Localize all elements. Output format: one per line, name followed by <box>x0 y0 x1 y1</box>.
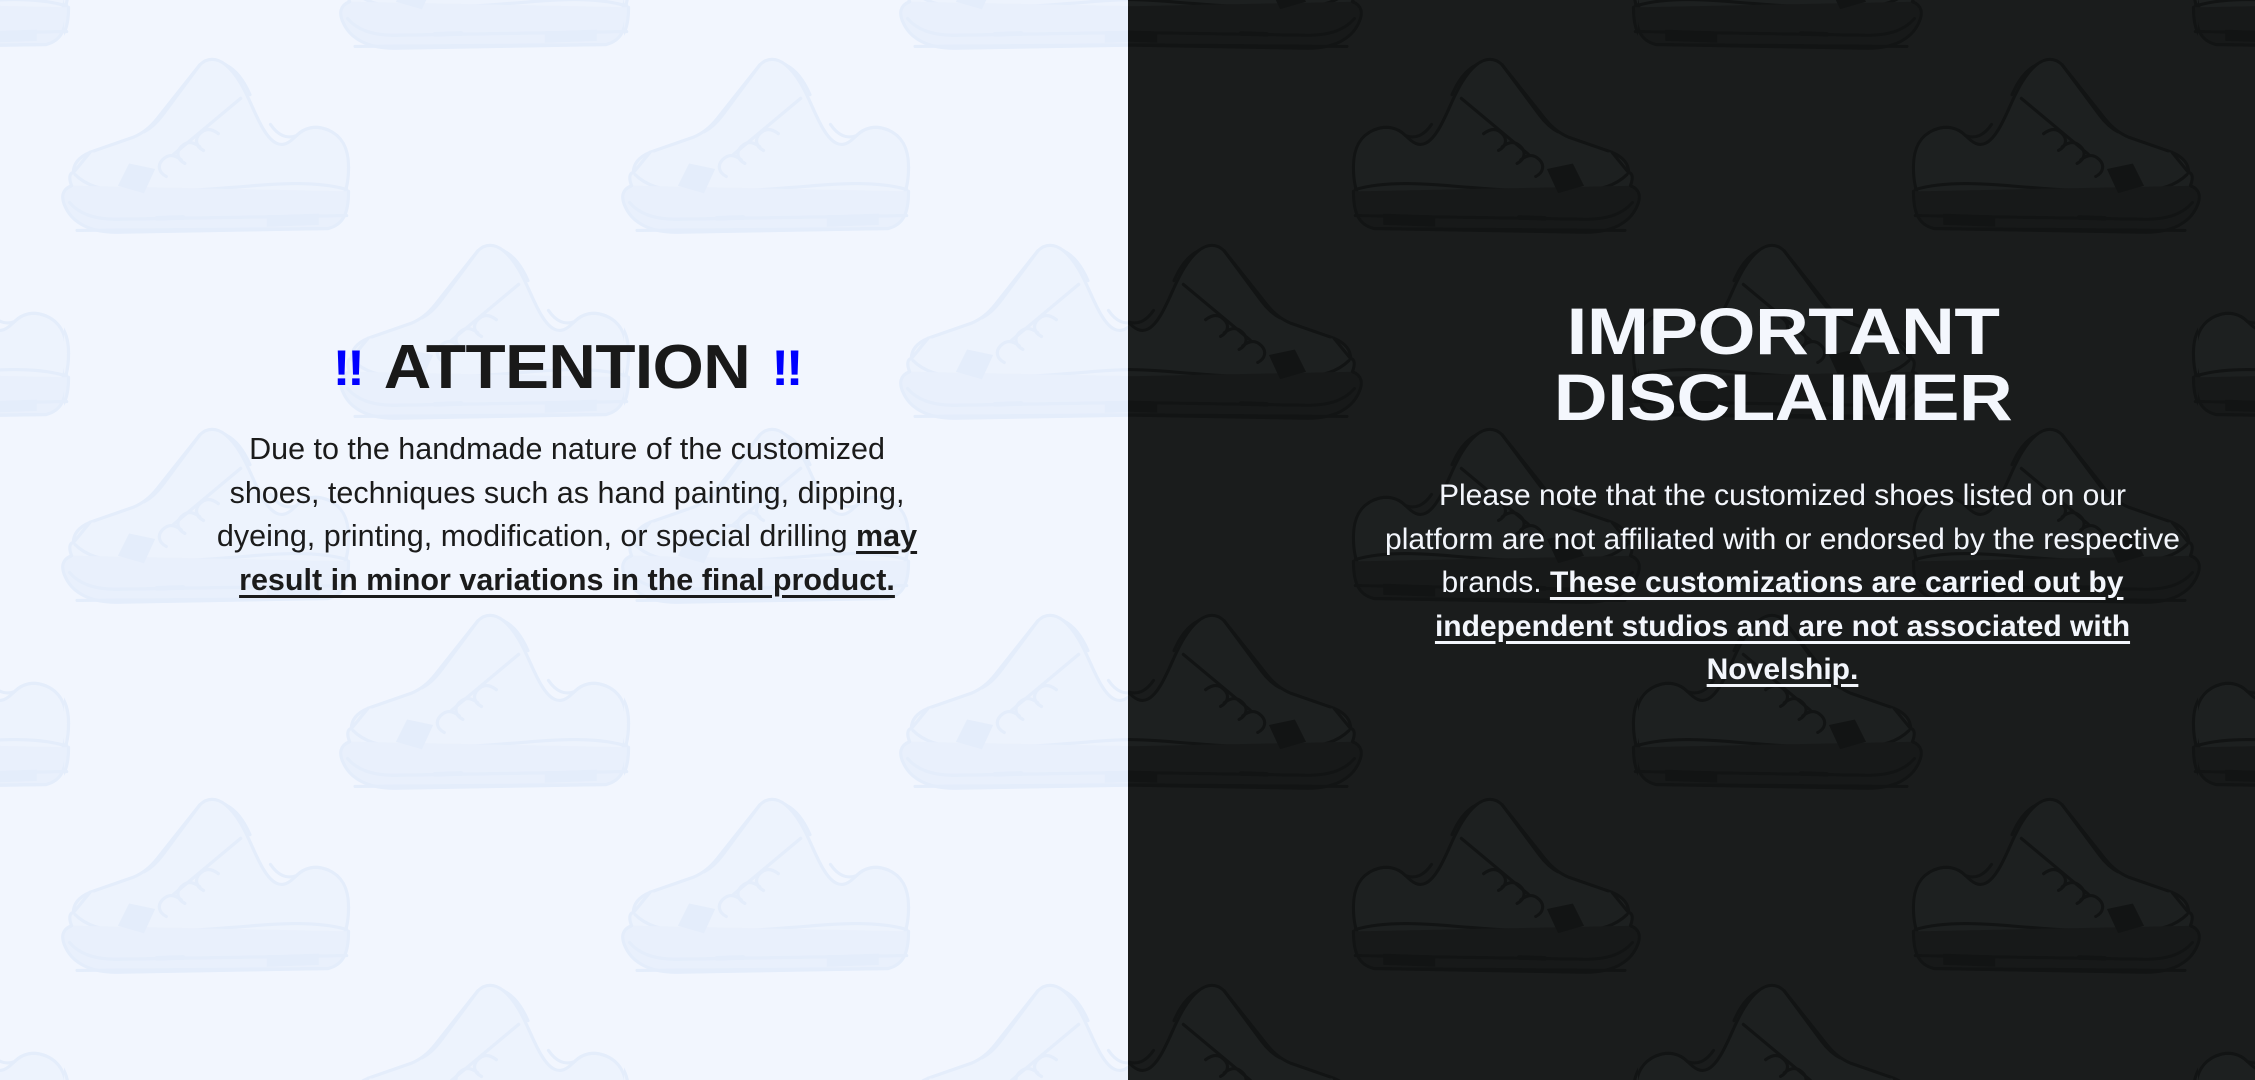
disclaimer-banner: ‼ATTENTION‼ Due to the handmade nature o… <box>0 0 2255 1080</box>
double-exclamation-icon-left: ‼ <box>333 340 363 396</box>
double-exclamation-icon-right: ‼ <box>771 340 801 396</box>
attention-body-normal: Due to the handmade nature of the custom… <box>217 432 905 553</box>
disclaimer-body: Please note that the customized shoes li… <box>1385 474 2181 692</box>
attention-body: Due to the handmade nature of the custom… <box>211 428 923 602</box>
disclaimer-heading-line1: IMPORTANT <box>1333 298 2232 364</box>
attention-heading: ‼ATTENTION‼ <box>190 336 945 400</box>
disclaimer-panel: IMPORTANT DISCLAIMER Please note that th… <box>1128 0 2255 1080</box>
disclaimer-content: IMPORTANT DISCLAIMER Please note that th… <box>1385 0 2181 692</box>
disclaimer-heading-line2: DISCLAIMER <box>1333 364 2232 430</box>
attention-heading-text: ATTENTION <box>384 333 750 402</box>
attention-panel: ‼ATTENTION‼ Due to the handmade nature o… <box>0 0 1128 1080</box>
disclaimer-heading: IMPORTANT DISCLAIMER <box>1333 298 2232 430</box>
attention-content: ‼ATTENTION‼ Due to the handmade nature o… <box>211 0 923 602</box>
